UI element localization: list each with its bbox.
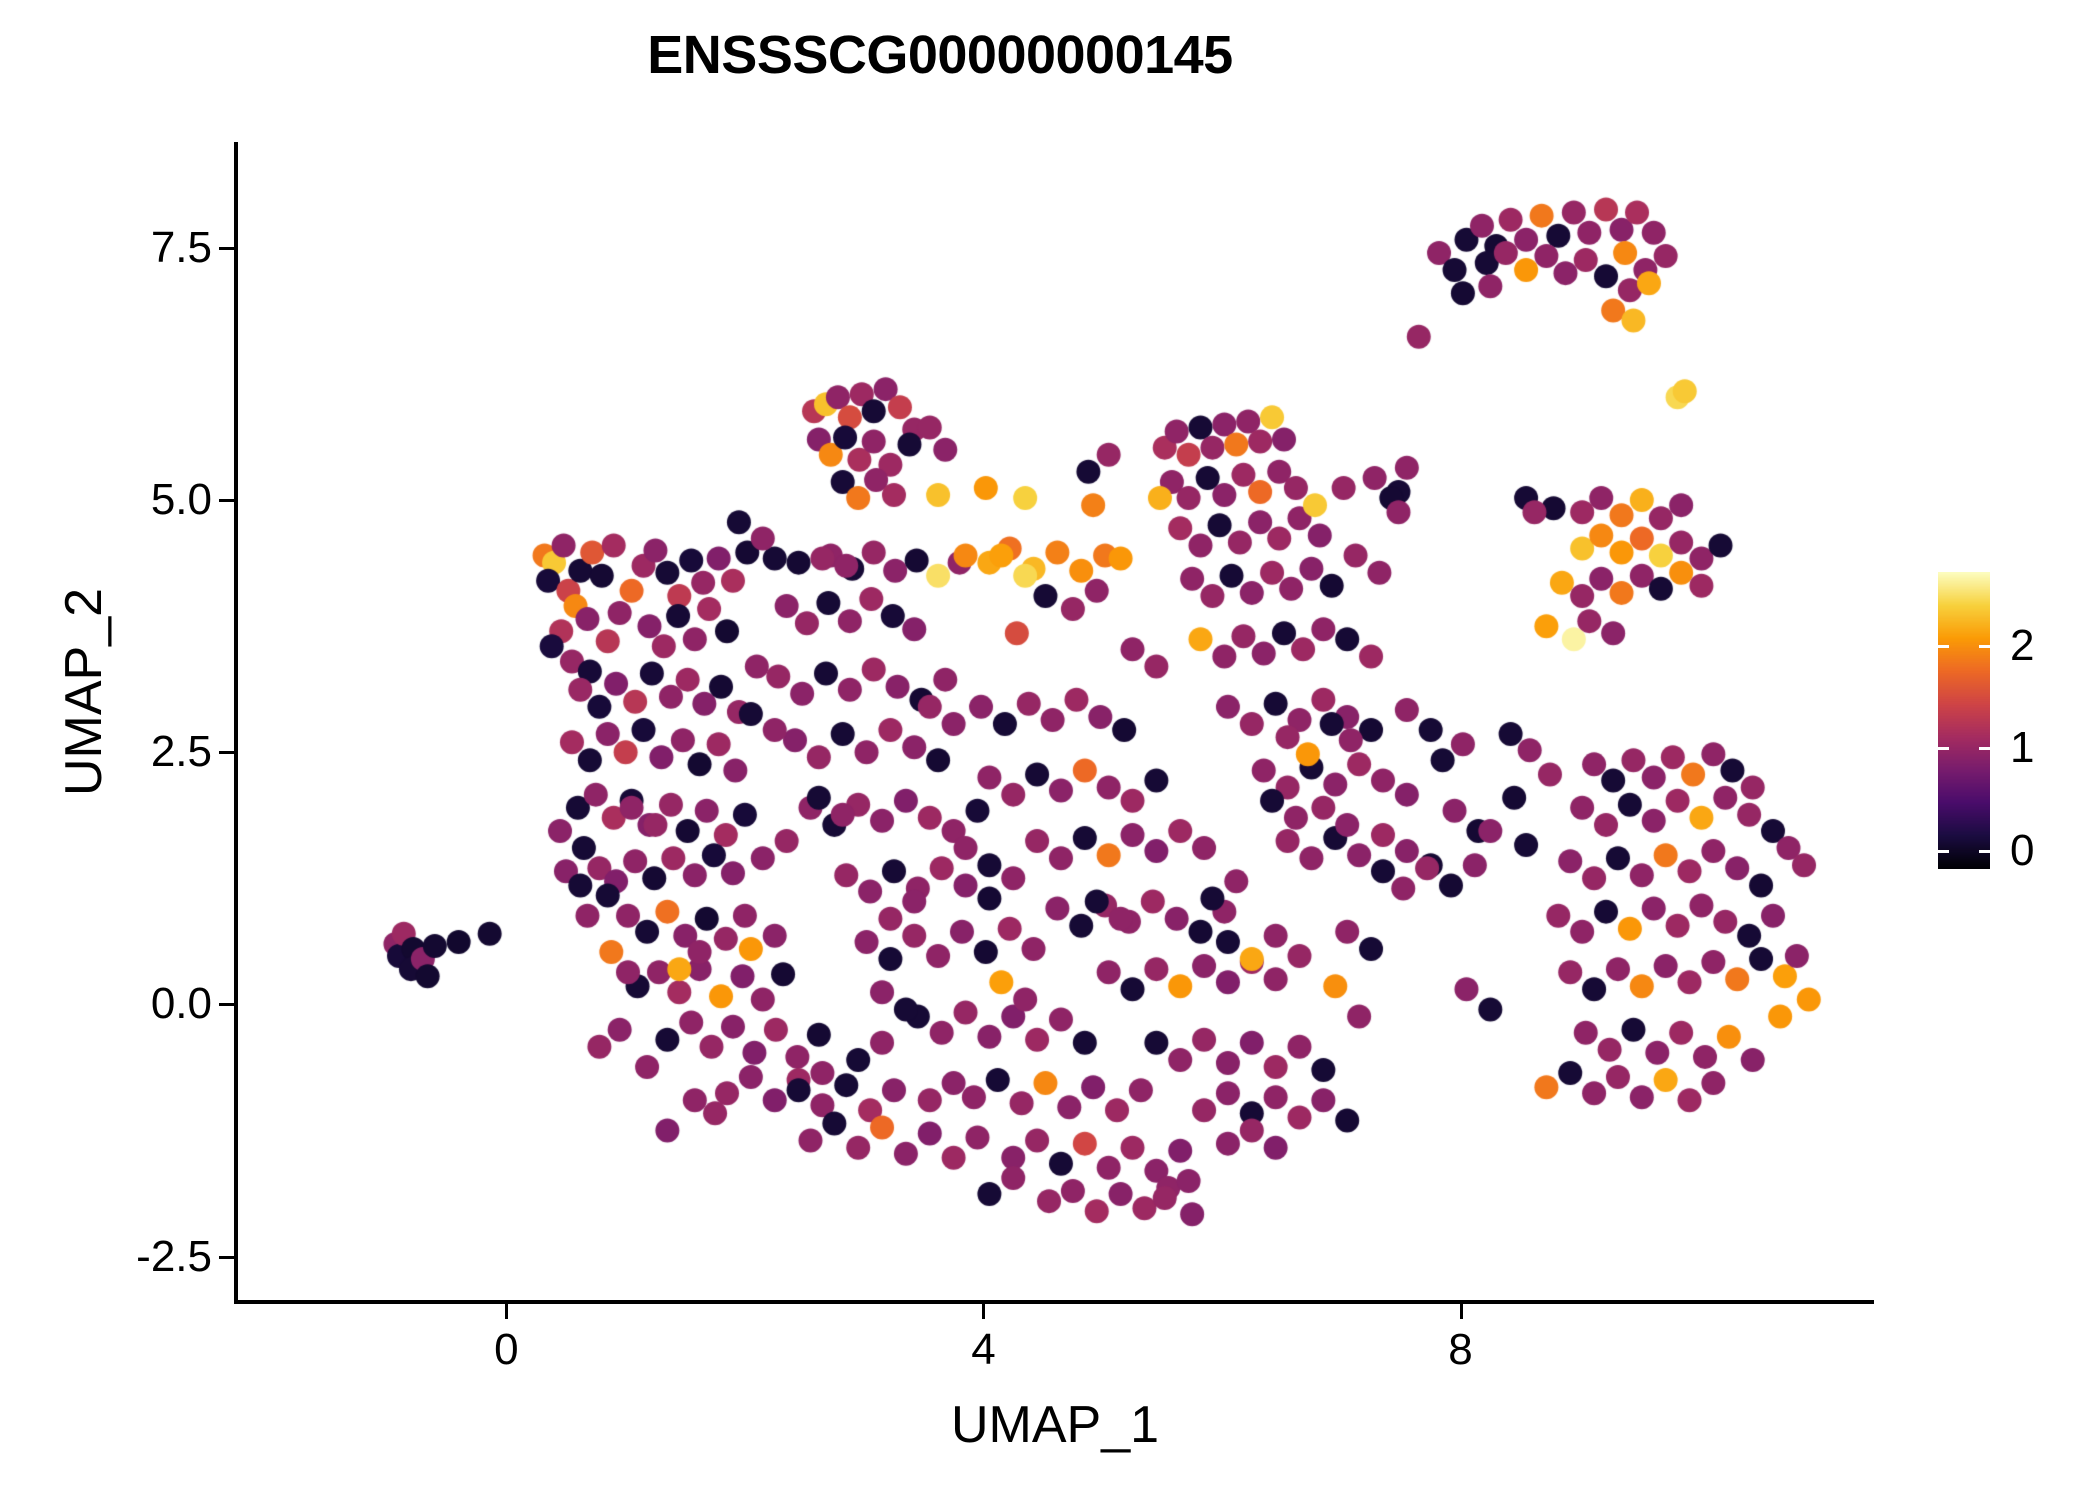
y-tick-label: 0.0 xyxy=(151,979,212,1029)
y-tick-mark xyxy=(219,1003,234,1006)
y-tick-mark xyxy=(219,1256,234,1259)
x-tick-mark xyxy=(982,1304,985,1319)
color-legend: 012 xyxy=(1938,572,2088,902)
y-tick-label: 5.0 xyxy=(151,475,212,525)
legend-tick-label: 0 xyxy=(2010,826,2034,876)
x-tick-mark xyxy=(505,1304,508,1319)
y-tick-label: 2.5 xyxy=(151,727,212,777)
x-tick-label: 8 xyxy=(1448,1325,1472,1375)
y-tick-mark xyxy=(219,247,234,250)
y-tick-mark xyxy=(219,499,234,502)
x-axis-title: UMAP_1 xyxy=(238,1395,1872,1455)
y-axis-line xyxy=(234,142,238,1304)
page-title: ENSSSCG00000000145 xyxy=(0,24,1880,86)
x-tick-mark xyxy=(1460,1304,1463,1319)
x-tick-label: 0 xyxy=(494,1325,518,1375)
y-tick-label: 7.5 xyxy=(151,223,212,273)
legend-tick-mark xyxy=(1938,747,1990,750)
y-tick-mark xyxy=(219,751,234,754)
legend-tick-label: 2 xyxy=(2010,621,2034,671)
legend-colorbar xyxy=(1938,572,1990,869)
legend-tick-mark xyxy=(1938,645,1990,648)
scatter-plot-canvas xyxy=(238,142,1872,1302)
y-axis-title: UMAP_2 xyxy=(54,292,114,1092)
legend-tick-label: 1 xyxy=(2010,723,2034,773)
plot-panel xyxy=(238,142,1872,1302)
chart-page: ENSSSCG00000000145 -2.50.02.55.07.5 048 … xyxy=(0,0,2100,1500)
legend-tick-mark xyxy=(1938,850,1990,853)
y-tick-label: -2.5 xyxy=(136,1232,212,1282)
x-tick-label: 4 xyxy=(971,1325,995,1375)
x-axis-line xyxy=(234,1300,1874,1304)
